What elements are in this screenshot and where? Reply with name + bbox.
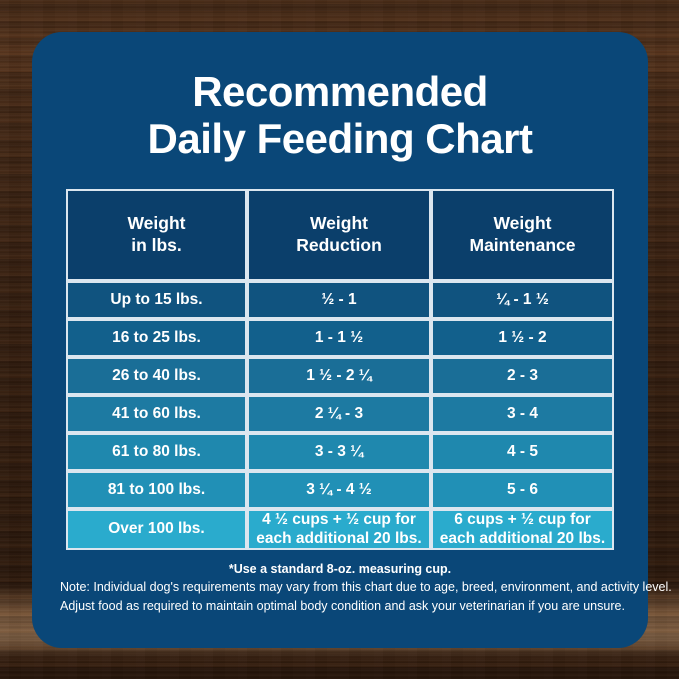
cell-maintenance-line-1: 1 ½ - 2 [437, 329, 608, 347]
column-header-weight-maintenance-line-1: Weight [437, 213, 608, 235]
table-row: 61 to 80 lbs. 3 - 3 ¼ 4 - 5 [66, 433, 614, 471]
cell-reduction: 4 ½ cups + ½ cup for each additional 20 … [247, 509, 431, 550]
cell-maintenance-line-1: 2 - 3 [437, 367, 608, 385]
table-row: Over 100 lbs. 4 ½ cups + ½ cup for each … [66, 509, 614, 550]
table-row: 16 to 25 lbs. 1 - 1 ½ 1 ½ - 2 [66, 319, 614, 357]
table-body: Up to 15 lbs. ½ - 1 ¼ - 1 ½ 16 to 25 lbs… [66, 281, 614, 550]
footnote-note-line-2: Adjust food as required to maintain opti… [60, 597, 620, 616]
feeding-chart-card: Recommended Daily Feeding Chart Weight i… [32, 32, 648, 648]
column-header-weight-reduction-line-2: Reduction [253, 235, 425, 257]
cell-maintenance: 2 - 3 [431, 357, 614, 395]
cell-reduction: ½ - 1 [247, 281, 431, 319]
cell-maintenance: 4 - 5 [431, 433, 614, 471]
cell-reduction-line-2: each additional 20 lbs. [253, 530, 425, 549]
cell-reduction-line-1: 2 ¼ - 3 [253, 405, 425, 423]
cell-weight: 16 to 25 lbs. [66, 319, 247, 357]
table-row: 81 to 100 lbs. 3 ¼ - 4 ½ 5 - 6 [66, 471, 614, 509]
table-row: Up to 15 lbs. ½ - 1 ¼ - 1 ½ [66, 281, 614, 319]
cell-maintenance: ¼ - 1 ½ [431, 281, 614, 319]
cell-reduction-line-1: 3 ¼ - 4 ½ [253, 481, 425, 499]
column-header-weight-reduction-line-1: Weight [253, 213, 425, 235]
column-header-weight-maintenance: Weight Maintenance [431, 189, 614, 281]
page-title-line-1: Recommended [148, 68, 533, 115]
table-row: 26 to 40 lbs. 1 ½ - 2 ¼ 2 - 3 [66, 357, 614, 395]
cell-weight: 41 to 60 lbs. [66, 395, 247, 433]
cell-weight: 26 to 40 lbs. [66, 357, 247, 395]
cell-reduction-line-1: 4 ½ cups + ½ cup for [253, 511, 425, 530]
cell-reduction: 2 ¼ - 3 [247, 395, 431, 433]
cell-maintenance-line-1: 4 - 5 [437, 443, 608, 461]
cell-weight: Over 100 lbs. [66, 509, 247, 550]
cell-maintenance-line-2: each additional 20 lbs. [437, 530, 608, 549]
cell-maintenance: 1 ½ - 2 [431, 319, 614, 357]
cell-reduction-line-1: 1 ½ - 2 ¼ [253, 367, 425, 385]
cell-reduction-line-1: ½ - 1 [253, 291, 425, 309]
cell-maintenance: 5 - 6 [431, 471, 614, 509]
cell-reduction-line-1: 1 - 1 ½ [253, 329, 425, 347]
cell-weight: 61 to 80 lbs. [66, 433, 247, 471]
cell-reduction: 1 - 1 ½ [247, 319, 431, 357]
column-header-weight-maintenance-line-2: Maintenance [437, 235, 608, 257]
table-head: Weight in lbs. Weight Reduction Weight M… [66, 189, 614, 281]
column-header-weight-line-1: Weight [72, 213, 241, 235]
footnote-note-line-1: Note: Individual dog's requirements may … [60, 578, 620, 597]
table-row: 41 to 60 lbs. 2 ¼ - 3 3 - 4 [66, 395, 614, 433]
cell-maintenance: 6 cups + ½ cup for each additional 20 lb… [431, 509, 614, 550]
cell-reduction: 3 ¼ - 4 ½ [247, 471, 431, 509]
cell-maintenance: 3 - 4 [431, 395, 614, 433]
footnote-measuring-cup: *Use a standard 8-oz. measuring cup. [60, 560, 620, 578]
page-title-line-2: Daily Feeding Chart [148, 115, 533, 162]
cell-reduction: 3 - 3 ¼ [247, 433, 431, 471]
cell-reduction: 1 ½ - 2 ¼ [247, 357, 431, 395]
page-title: Recommended Daily Feeding Chart [148, 68, 533, 162]
cell-maintenance-line-1: ¼ - 1 ½ [437, 291, 608, 309]
footnotes: *Use a standard 8-oz. measuring cup. Not… [60, 560, 620, 616]
table-header-row: Weight in lbs. Weight Reduction Weight M… [66, 189, 614, 281]
cell-maintenance-line-1: 5 - 6 [437, 481, 608, 499]
cell-maintenance-line-1: 6 cups + ½ cup for [437, 511, 608, 530]
cell-reduction-line-1: 3 - 3 ¼ [253, 443, 425, 461]
column-header-weight-reduction: Weight Reduction [247, 189, 431, 281]
feeding-chart-table: Weight in lbs. Weight Reduction Weight M… [66, 189, 614, 550]
cell-maintenance-line-1: 3 - 4 [437, 405, 608, 423]
cell-weight: 81 to 100 lbs. [66, 471, 247, 509]
column-header-weight-line-2: in lbs. [72, 235, 241, 257]
cell-weight: Up to 15 lbs. [66, 281, 247, 319]
column-header-weight: Weight in lbs. [66, 189, 247, 281]
